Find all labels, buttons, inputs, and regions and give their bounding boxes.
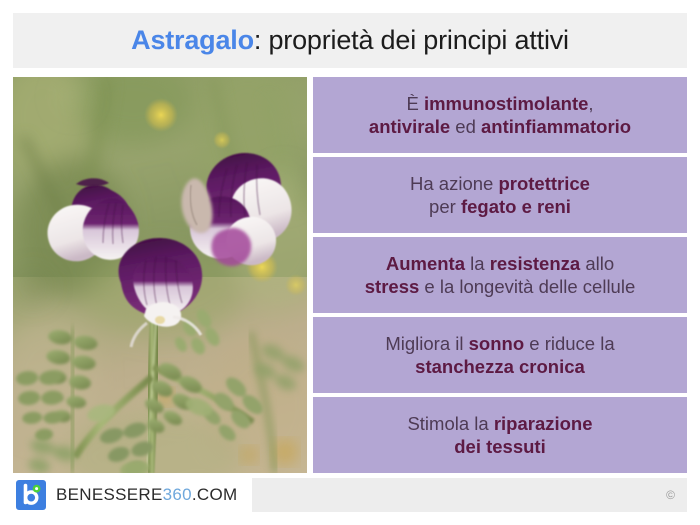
- brand-tld: .COM: [192, 485, 238, 504]
- header-band: Astragalo: proprietà dei principi attivi: [13, 13, 687, 68]
- brand-chip[interactable]: BENESSERE360.COM: [13, 478, 252, 512]
- fact-box-resistenza-stress: Aumenta la resistenza allostress e la lo…: [313, 237, 687, 313]
- brand-name: BENESSERE: [56, 485, 163, 504]
- astragalus-photo: [13, 77, 307, 473]
- benessere360-logo-icon: [16, 480, 46, 510]
- page-title-brand: Astragalo: [131, 25, 254, 55]
- brand-number: 360: [163, 485, 192, 504]
- logo-b-glyph: [16, 480, 46, 510]
- astragalus-photo-illustration: [13, 77, 307, 473]
- page-title: Astragalo: proprietà dei principi attivi: [131, 27, 569, 54]
- brand-wordmark: BENESSERE360.COM: [56, 485, 238, 505]
- copyright-symbol: ©: [666, 488, 675, 502]
- fact-text-3: Migliora il sonno e riduce lastanchezza …: [385, 332, 614, 379]
- fact-box-protettrice-fegato-reni: Ha azione protettriceper fegato e reni: [313, 157, 687, 233]
- fact-text-1: Ha azione protettriceper fegato e reni: [410, 172, 590, 219]
- page-title-rest: : proprietà dei principi attivi: [254, 25, 569, 55]
- fact-text-4: Stimola la riparazionedei tessuti: [407, 412, 592, 459]
- properties-panel: È immunostimolante,antivirale ed antinfi…: [313, 77, 687, 473]
- fact-text-0: È immunostimolante,antivirale ed antinfi…: [369, 92, 631, 139]
- fact-text-2: Aumenta la resistenza allostress e la lo…: [365, 252, 636, 299]
- fact-box-immunostimolante: È immunostimolante,antivirale ed antinfi…: [313, 77, 687, 153]
- footer-band: BENESSERE360.COM ©: [13, 478, 687, 512]
- fact-box-sonno-stanchezza: Migliora il sonno e riduce lastanchezza …: [313, 317, 687, 393]
- fact-box-riparazione-tessuti: Stimola la riparazionedei tessuti: [313, 397, 687, 473]
